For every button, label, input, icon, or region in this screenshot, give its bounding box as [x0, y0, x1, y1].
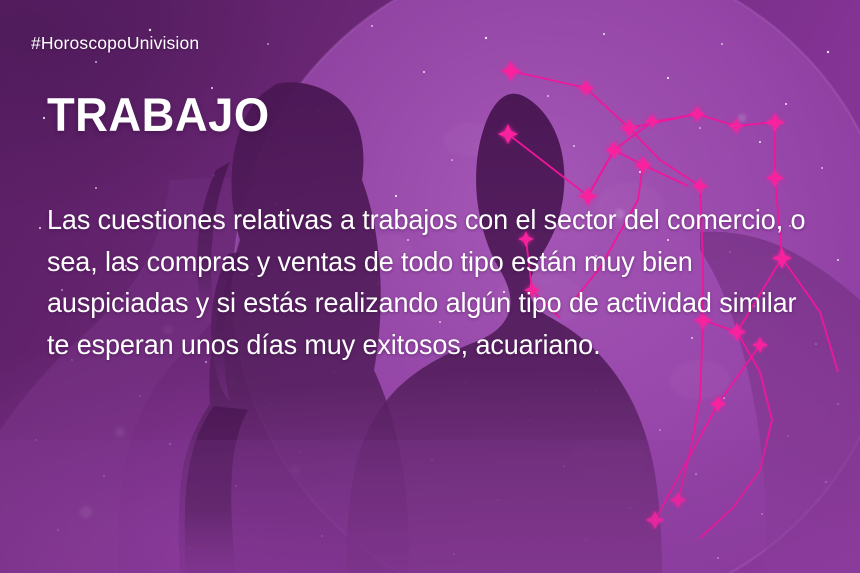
horoscope-body-text: Las cuestiones relativas a trabajos con …: [47, 199, 813, 365]
hashtag-label: #HoroscopoUnivision: [31, 33, 199, 54]
page-title: TRABAJO: [47, 88, 270, 142]
horoscope-card: #HoroscopoUnivision TRABAJO Las cuestion…: [0, 0, 860, 573]
